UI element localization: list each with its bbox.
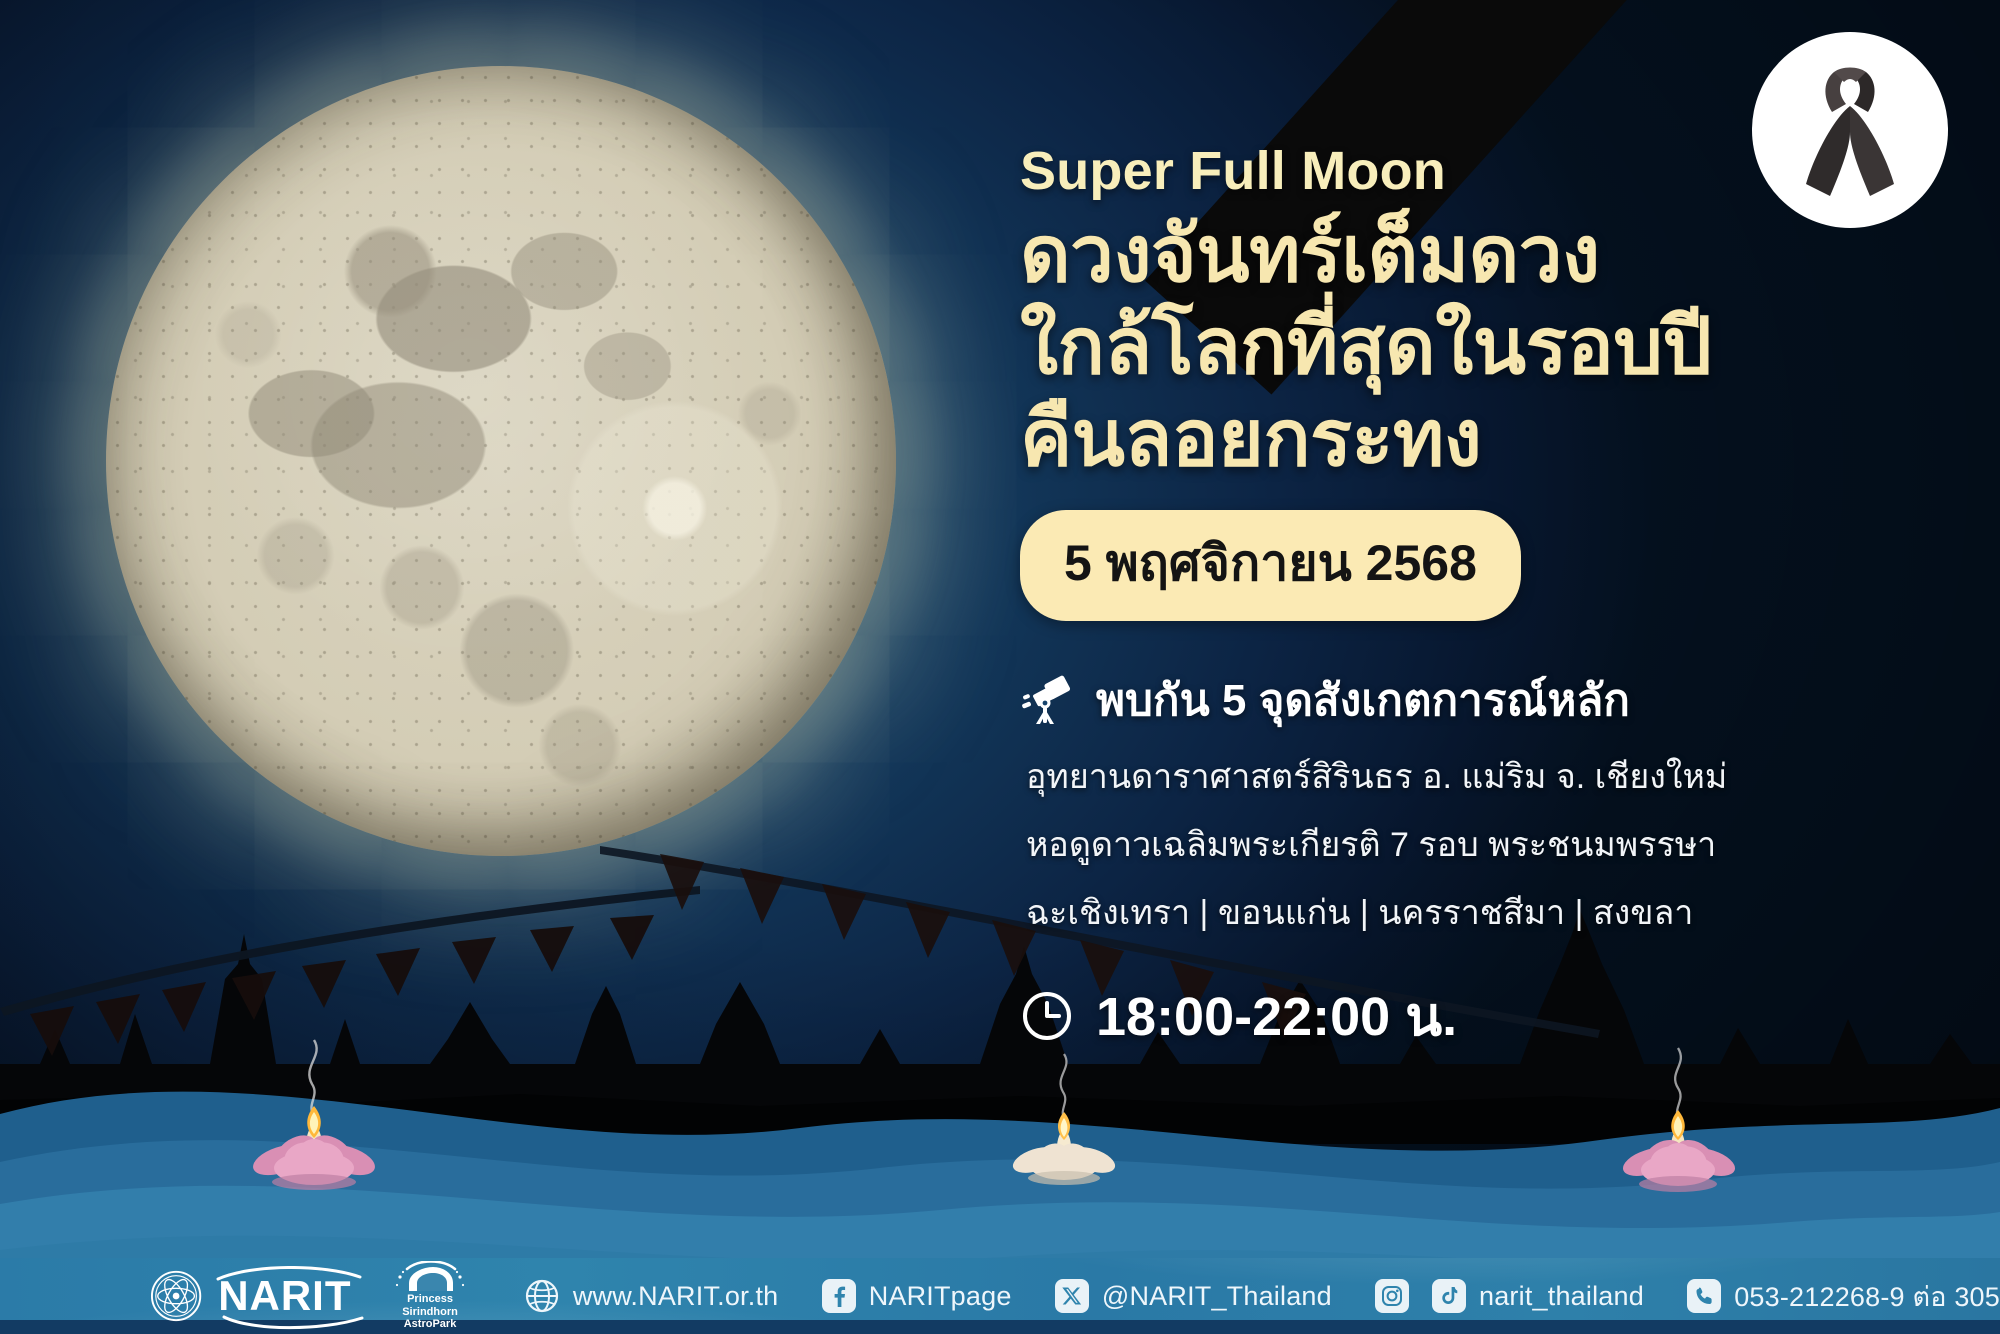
facebook-icon <box>822 1279 856 1313</box>
time-row: 18:00-22:00 น. <box>1020 973 1950 1059</box>
full-moon-image <box>106 66 896 856</box>
astropark-line-1: Princess Sirindhorn <box>380 1293 481 1318</box>
astropark-logo: Princess Sirindhorn AstroPark <box>380 1261 481 1331</box>
footer-item-facebook[interactable]: NARITpage <box>822 1279 1012 1313</box>
footer-bar: NARIT Pr <box>0 1258 2000 1334</box>
x-twitter-icon <box>1055 1279 1089 1313</box>
phone-icon <box>1687 1279 1721 1313</box>
moon-limb-shading <box>106 66 896 856</box>
footer-item-tiktok[interactable]: narit_thailand <box>1432 1279 1644 1313</box>
lotus-krathong-left <box>240 1034 390 1204</box>
lotus-krathong-right <box>1610 1042 1750 1202</box>
narit-seal-icon <box>150 1269 202 1323</box>
venue-line-1: อุทยานดาราศาสตร์สิรินธร อ. แม่ริม จ. เชี… <box>1026 749 1950 803</box>
instagram-icon <box>1375 1279 1409 1313</box>
lotus-krathong-center <box>1000 1048 1130 1198</box>
footer-item-website[interactable]: www.NARIT.or.th <box>524 1278 779 1314</box>
venue-block: พบกัน 5 จุดสังเกตการณ์หลัก อุทยานดาราศาส… <box>1020 665 1950 939</box>
footer-tiktok-label: narit_thailand <box>1479 1281 1644 1312</box>
venue-heading-text: พบกัน 5 จุดสังเกตการณ์หลัก <box>1096 665 1630 735</box>
time-text: 18:00-22:00 น. <box>1096 973 1457 1059</box>
page-title: ดวงจันทร์เต็มดวง ใกล้โลกที่สุดในรอบปี คื… <box>1020 208 1950 484</box>
date-badge: 5 พฤศจิกายน 2568 <box>1020 510 1521 621</box>
venue-line-3: ฉะเชิงเทรา | ขอนแก่น | นครราชสีมา | สงขล… <box>1026 885 1950 939</box>
tiktok-icon <box>1432 1279 1466 1313</box>
moon-texture <box>106 66 896 856</box>
narit-logo-group: NARIT Pr <box>150 1261 481 1331</box>
footer-item-x[interactable]: @NARIT_Thailand <box>1055 1279 1332 1313</box>
footer-phone-label: 053-212268-9 ต่อ 305 <box>1734 1275 2000 1318</box>
headline-line-1: ดวงจันทร์เต็มดวง <box>1020 208 1950 300</box>
venue-line-2: หอดูดาวเฉลิมพระเกียรติ 7 รอบ พระชนมพรรษา <box>1026 817 1950 871</box>
astropark-line-2: AstroPark <box>404 1318 457 1331</box>
footer-website-label: www.NARIT.or.th <box>573 1281 779 1312</box>
footer-item-phone[interactable]: 053-212268-9 ต่อ 305 <box>1687 1275 2000 1318</box>
narit-swoosh-bottom <box>222 1315 372 1331</box>
footer-facebook-label: NARITpage <box>869 1281 1012 1312</box>
footer-x-label: @NARIT_Thailand <box>1102 1281 1332 1312</box>
headline-line-2: ใกล้โลกที่สุดในรอบปี <box>1020 300 1950 392</box>
globe-icon <box>524 1278 560 1314</box>
headline-line-3: คืนลอยกระทง <box>1020 392 1950 484</box>
narit-swoosh-top <box>214 1266 364 1282</box>
clock-icon <box>1020 989 1074 1043</box>
venue-heading-row: พบกัน 5 จุดสังเกตการณ์หลัก <box>1020 665 1950 735</box>
poster-text-column: Super Full Moon ดวงจันทร์เต็มดวง ใกล้โลก… <box>1020 140 1950 1059</box>
telescope-icon <box>1020 673 1074 727</box>
astropark-dome-icon <box>393 1261 467 1293</box>
eyebrow-title: Super Full Moon <box>1020 140 1950 202</box>
poster-canvas: Super Full Moon ดวงจันทร์เต็มดวง ใกล้โลก… <box>0 0 2000 1334</box>
footer-item-instagram[interactable] <box>1375 1279 1422 1313</box>
